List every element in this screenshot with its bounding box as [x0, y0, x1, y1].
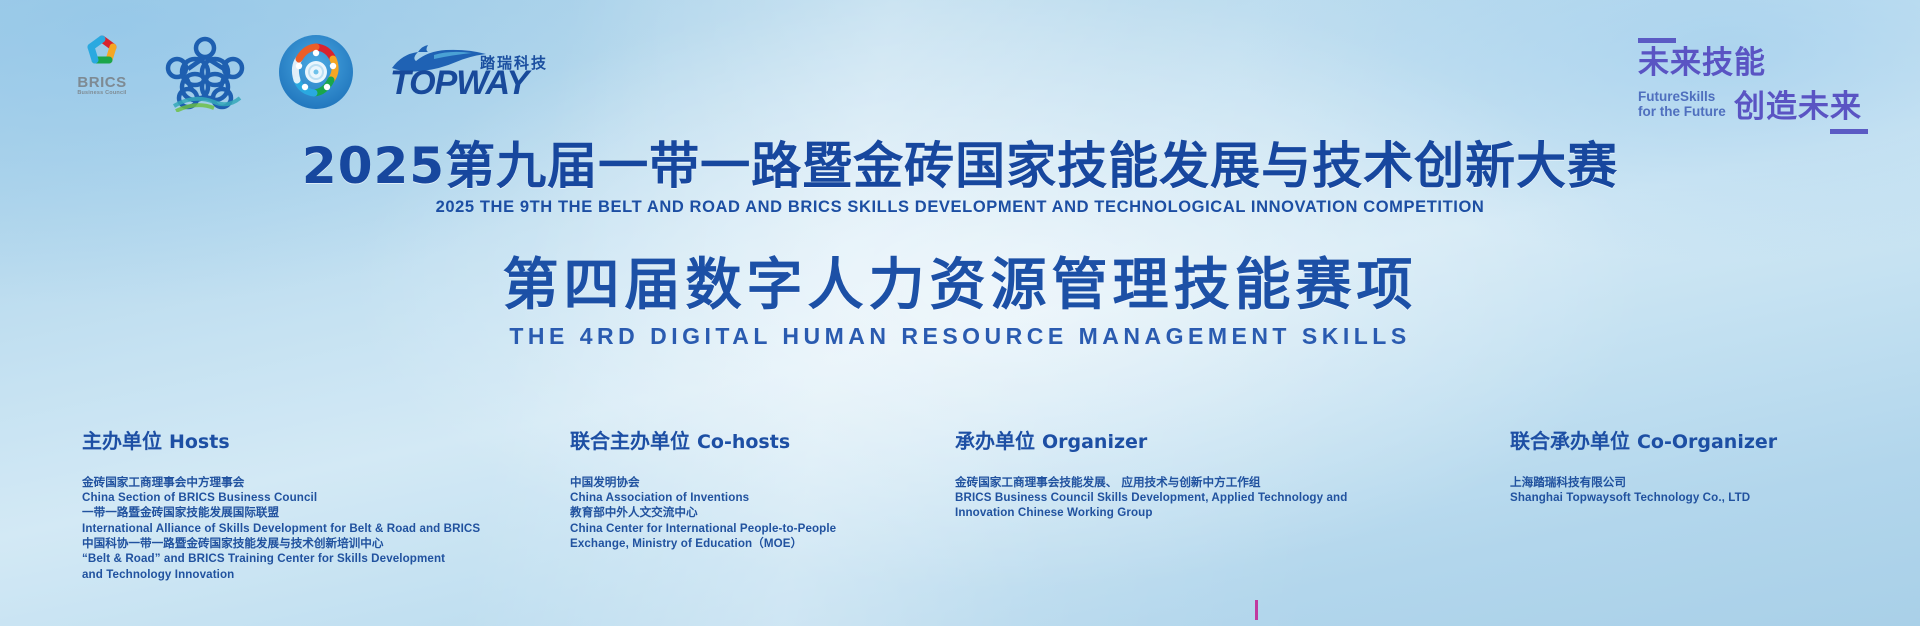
organizer-lines: 金砖国家工商理事会中方理事会 China Section of BRICS Bu…	[82, 475, 552, 582]
organizer-heading-cn: 主办单位	[82, 429, 162, 453]
slogan-en: FutureSkills for the Future	[1638, 90, 1726, 119]
organizer-heading: 承办单位 Organizer	[955, 430, 1385, 453]
organizer-column-cohosts: 联合主办单位 Co-hosts 中国发明协会 China Association…	[570, 430, 930, 551]
organizer-line: 中国科协一带一路暨金砖国家技能发展与技术创新培训中心	[82, 536, 552, 551]
main-title-block: 2025第九届一带一路暨金砖国家技能发展与技术创新大赛 2025 THE 9TH…	[0, 140, 1920, 217]
title-cn-sub: 第四届数字人力资源管理技能赛项	[0, 255, 1920, 317]
organizer-line: Shanghai Topwaysoft Technology Co., LTD	[1510, 490, 1910, 505]
organizer-column-hosts: 主办单位 Hosts 金砖国家工商理事会中方理事会 China Section …	[82, 430, 552, 582]
topway-logo: 踏瑞科技 TOPWAY	[388, 36, 548, 108]
organizer-lines: 上海踏瑞科技有限公司 Shanghai Topwaysoft Technolog…	[1510, 475, 1910, 506]
organizer-heading-cn: 联合主办单位	[570, 429, 690, 453]
organizer-heading: 联合承办单位 Co-Organizer	[1510, 430, 1910, 453]
brics-skills-emblem-logo	[278, 34, 354, 110]
slogan-rule-bottom	[1830, 129, 1868, 134]
text-cursor-caret	[1255, 600, 1258, 620]
organizer-line: 金砖国家工商理事会技能发展、 应用技术与创新中方工作组	[955, 475, 1385, 490]
title-en-sub: THE 4RD DIGITAL HUMAN RESOURCE MANAGEMEN…	[0, 323, 1920, 350]
organizer-line: “Belt & Road” and BRICS Training Center …	[82, 551, 552, 566]
presentation-slide: BRICS Business Council	[0, 0, 1920, 626]
organizer-heading-cn: 承办单位	[955, 429, 1035, 453]
alliance-petal-icon	[162, 32, 248, 112]
organizer-column-organizer: 承办单位 Organizer 金砖国家工商理事会技能发展、 应用技术与创新中方工…	[955, 430, 1385, 521]
organizer-heading: 主办单位 Hosts	[82, 430, 552, 453]
organizer-line: China Center for International People-to…	[570, 521, 930, 536]
slogan-en-line2: for the Future	[1638, 105, 1726, 120]
organizer-line: 金砖国家工商理事会中方理事会	[82, 475, 552, 490]
organizer-line: Innovation Chinese Working Group	[955, 505, 1385, 520]
organizer-line: Exchange, Ministry of Education（MOE）	[570, 536, 930, 551]
skills-emblem-icon	[278, 34, 354, 110]
organizer-line: BRICS Business Council Skills Developmen…	[955, 490, 1385, 505]
organizer-line: International Alliance of Skills Develop…	[82, 521, 552, 536]
brics-logo-line2: Business Council	[77, 91, 126, 97]
organizer-line: 中国发明协会	[570, 475, 930, 490]
brics-star-icon	[81, 33, 123, 73]
organizer-line: China Section of BRICS Business Council	[82, 490, 552, 505]
organizer-line: 教育部中外人文交流中心	[570, 505, 930, 520]
future-skills-slogan: 未来技能 FutureSkills for the Future 创造未来	[1618, 32, 1868, 132]
brics-logo-line1: BRICS	[77, 75, 126, 90]
organizer-heading: 联合主办单位 Co-hosts	[570, 430, 930, 453]
title-en-main: 2025 THE 9TH THE BELT AND ROAD AND BRICS…	[0, 198, 1920, 217]
title-cn-main: 2025第九届一带一路暨金砖国家技能发展与技术创新大赛	[0, 140, 1920, 193]
organizer-lines: 金砖国家工商理事会技能发展、 应用技术与创新中方工作组 BRICS Busine…	[955, 475, 1385, 521]
slogan-cn-line2: 创造未来	[1734, 92, 1862, 123]
sub-title-block: 第四届数字人力资源管理技能赛项 THE 4RD DIGITAL HUMAN RE…	[0, 255, 1920, 350]
brics-business-council-logo: BRICS Business Council	[70, 33, 134, 111]
organizer-line: China Association of Inventions	[570, 490, 930, 505]
topway-logo-wordmark: TOPWAY	[390, 66, 528, 100]
organizer-heading-en: Co-Organizer	[1637, 431, 1777, 453]
slogan-en-line1: FutureSkills	[1638, 90, 1726, 105]
organizers-section: 主办单位 Hosts 金砖国家工商理事会中方理事会 China Section …	[0, 430, 1920, 610]
slogan-rule-top	[1638, 38, 1676, 43]
organizer-line: 上海踏瑞科技有限公司	[1510, 475, 1910, 490]
organizer-heading-en: Organizer	[1042, 431, 1147, 453]
organizer-line: and Technology Innovation	[82, 567, 552, 582]
belt-road-alliance-logo	[162, 32, 248, 112]
organizer-heading-cn: 联合承办单位	[1510, 429, 1630, 453]
slogan-cn-line1: 未来技能	[1638, 48, 1766, 79]
organizer-heading-en: Co-hosts	[697, 431, 790, 453]
organizer-column-coorganizer: 联合承办单位 Co-Organizer 上海踏瑞科技有限公司 Shanghai …	[1510, 430, 1910, 505]
organizer-line: 一带一路暨金砖国家技能发展国际联盟	[82, 505, 552, 520]
organizer-lines: 中国发明协会 China Association of Inventions 教…	[570, 475, 930, 551]
sponsor-logo-bar: BRICS Business Council	[60, 30, 548, 114]
organizer-heading-en: Hosts	[169, 431, 230, 453]
